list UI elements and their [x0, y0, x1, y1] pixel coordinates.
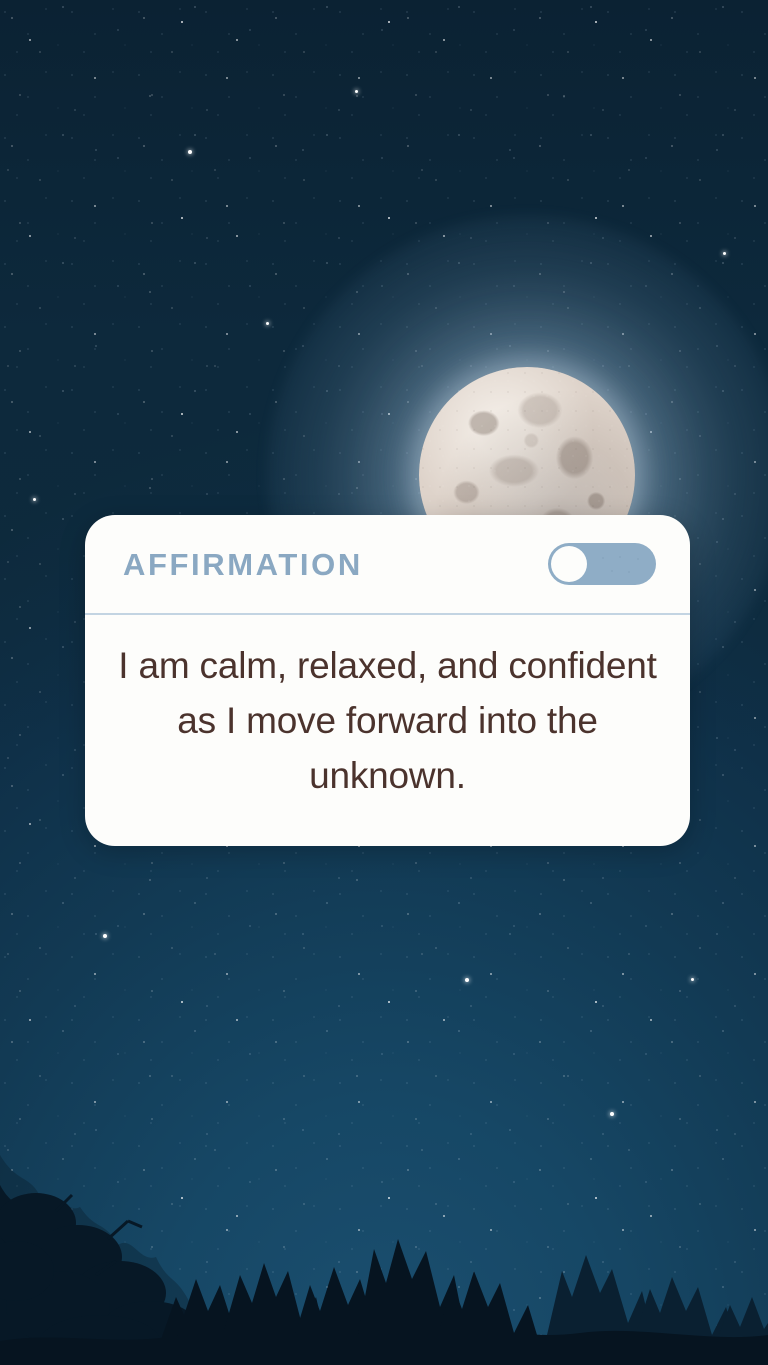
- affirmation-card-body: I am calm, relaxed, and confident as I m…: [85, 613, 690, 803]
- affirmation-card-header: AFFIRMATION: [85, 515, 690, 613]
- star-bright: [723, 252, 726, 255]
- card-divider: [85, 613, 690, 615]
- star-bright: [691, 978, 694, 981]
- star-bright: [465, 978, 469, 982]
- star-bright: [33, 498, 36, 501]
- affirmation-text: I am calm, relaxed, and confident as I m…: [113, 639, 662, 803]
- tree-silhouettes: [0, 1035, 768, 1365]
- toggle-texture-dots: [600, 554, 646, 576]
- toggle-knob[interactable]: [551, 546, 587, 582]
- affirmation-card: AFFIRMATION I am calm, relaxed, and conf…: [85, 515, 690, 846]
- star-bright: [355, 90, 358, 93]
- star-bright: [103, 934, 107, 938]
- affirmation-card-title: AFFIRMATION: [123, 549, 363, 580]
- star-bright: [188, 150, 192, 154]
- affirmation-widget-screen: AFFIRMATION I am calm, relaxed, and conf…: [0, 0, 768, 1365]
- affirmation-toggle[interactable]: [548, 543, 656, 585]
- star-bright: [266, 322, 269, 325]
